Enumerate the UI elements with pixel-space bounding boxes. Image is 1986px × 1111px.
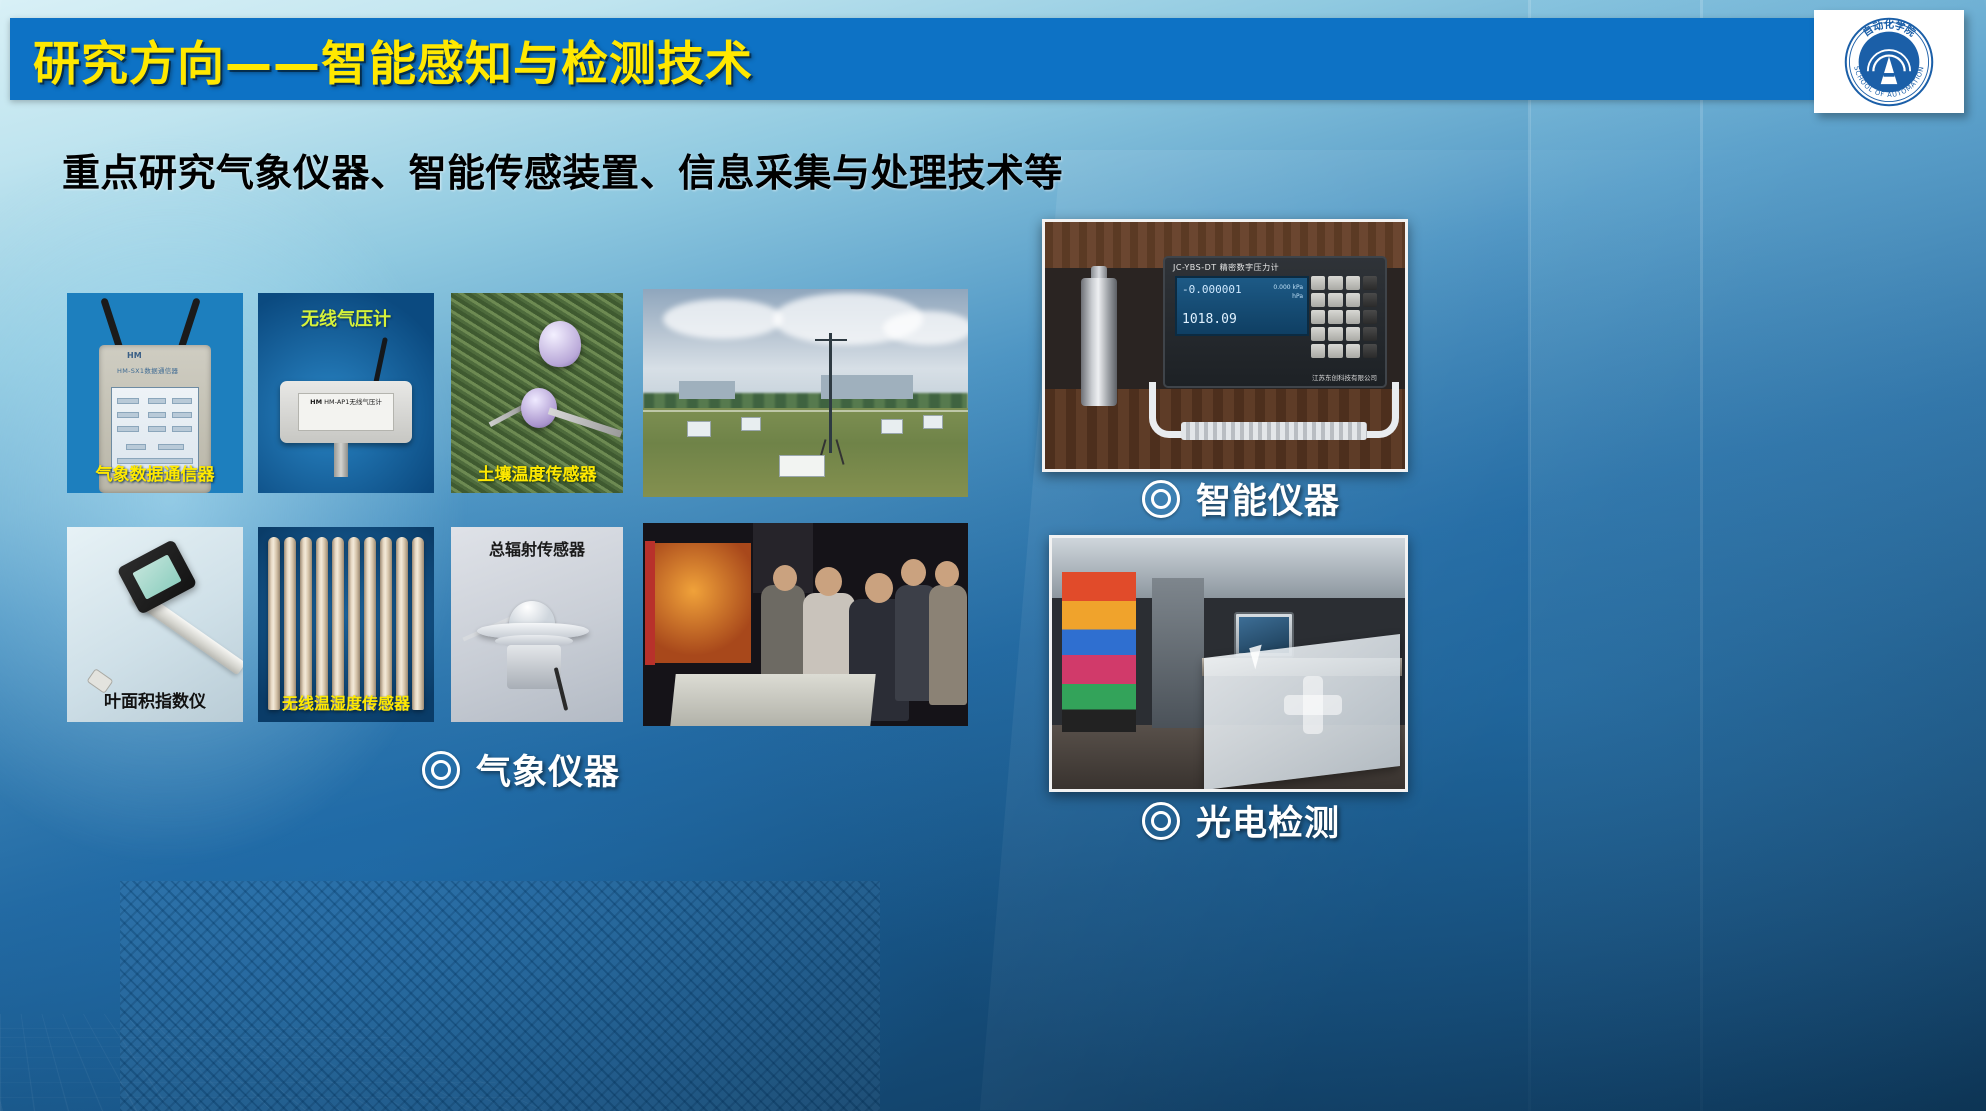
section-label-intelligent-instrument: 智能仪器 (1142, 473, 1340, 524)
person-head (901, 559, 926, 586)
keypad-key[interactable] (1363, 293, 1377, 307)
section-label-text: 智能仪器 (1196, 473, 1340, 524)
background-panel-b (1530, 0, 1986, 1111)
cross-target-icon (1284, 676, 1342, 734)
gauge-keypad[interactable] (1311, 276, 1377, 374)
sensor-base (507, 645, 561, 689)
keypad-key[interactable] (1311, 276, 1325, 290)
handle-grip (1181, 422, 1367, 440)
person-head (815, 567, 842, 596)
sensor-rod (300, 537, 312, 710)
exhibit-stripe (645, 541, 655, 665)
photo-wireless-barometer[interactable]: 无线气压计 HM HM-AP1无线气压计 (258, 293, 434, 493)
photo-photoelectric-detection[interactable] (1049, 535, 1408, 792)
keypad-key[interactable] (1346, 276, 1360, 290)
sensor-rod (316, 537, 328, 710)
photo-caption: 无线气压计 (258, 305, 434, 331)
led-color-panel (1062, 572, 1136, 732)
photo-caption: 无线温湿度传感器 (258, 690, 434, 714)
lcd-side-1: 0.000 kPa (1261, 283, 1303, 292)
slide-canvas: 研究方向——智能感知与检测技术 自动化学院 SCHOOL OF AUTOMATI… (0, 0, 1986, 1111)
lcd-line-2: 1018.09 (1182, 312, 1237, 327)
section-label-weather-instrument: 气象仪器 (422, 744, 620, 795)
keypad-key[interactable] (1311, 344, 1325, 358)
background-vertical-bar (1528, 0, 1531, 1111)
keypad-key[interactable] (1346, 293, 1360, 307)
photo-soil-temperature-sensor[interactable]: 土壤温度传感器 (451, 293, 623, 493)
mast-arm (815, 339, 847, 341)
instrument-shelter (881, 419, 903, 434)
section-label-text: 光电检测 (1196, 795, 1340, 846)
device-brand: HM (127, 351, 142, 360)
photo-digital-pressure-gauge[interactable]: JC-YBS-DT 精密数字压力计 -0.000001 1018.09 0.00… (1042, 219, 1408, 472)
photo-wireless-temp-humidity-sensor[interactable]: 无线温湿度传感器 (258, 527, 434, 722)
keypad-key[interactable] (1311, 293, 1325, 307)
instrument-shelter (741, 417, 761, 431)
building (821, 375, 913, 399)
sensor-rod-group (268, 537, 424, 710)
sensor-rod (396, 537, 408, 710)
photo-caption: 土壤温度传感器 (451, 460, 623, 485)
sensor-probe (548, 407, 622, 437)
school-of-automation-emblem-icon: 自动化学院 SCHOOL OF AUTOMATION (1843, 16, 1935, 108)
person (929, 585, 967, 705)
photo-caption: 气象数据通信器 (67, 460, 243, 485)
instrument-shelter (687, 421, 711, 437)
sensor-rod (348, 537, 360, 710)
keypad-key[interactable] (1346, 344, 1360, 358)
device-label-plate: HM HM-AP1无线气压计 (298, 393, 394, 431)
keypad-key[interactable] (1346, 327, 1360, 341)
photo-caption: 叶面积指数仪 (67, 687, 243, 712)
keypad-key[interactable] (1328, 293, 1342, 307)
sensor-rod (268, 537, 280, 710)
person-head (865, 573, 893, 603)
double-circle-icon (1142, 802, 1180, 840)
cloud (883, 311, 968, 345)
mounting-stem (334, 443, 348, 477)
sensor-rod (332, 537, 344, 710)
keypad-key[interactable] (1363, 327, 1377, 341)
sensor-rod (364, 537, 376, 710)
sensor-head (539, 321, 581, 367)
keypad-key[interactable] (1328, 276, 1342, 290)
exhibit-panel (655, 543, 751, 663)
glass-dome (509, 601, 555, 625)
info-sign (779, 455, 825, 477)
background-glow (0, 120, 480, 880)
section-label-photoelectric-detection: 光电检测 (1142, 795, 1340, 846)
lcd-side-values: 0.000 kPa hPa (1261, 283, 1303, 301)
keypad-key[interactable] (1328, 310, 1342, 324)
cable-icon (373, 337, 388, 385)
keypad-key[interactable] (1363, 276, 1377, 290)
photo-exhibition-scene[interactable] (643, 523, 968, 726)
lcd-line-1: -0.000001 (1182, 283, 1242, 296)
background-mesh (120, 881, 880, 1111)
meter-screen (132, 554, 181, 599)
device-brand: HM (310, 398, 322, 406)
building (679, 381, 735, 399)
sensor-rod (380, 537, 392, 710)
device-model: HM-AP1无线气压计 (324, 398, 382, 406)
section-label-text: 气象仪器 (476, 744, 620, 795)
keypad-key[interactable] (1346, 310, 1360, 324)
slide-title-bar: 研究方向——智能感知与检测技术 (10, 18, 1930, 100)
gauge-title: JC-YBS-DT 精密数字压力计 (1173, 262, 1279, 273)
fence-line (643, 410, 968, 412)
device-label: HM-SX1数据通信器 (117, 365, 178, 375)
pressure-probe (1081, 278, 1117, 406)
page-title: 研究方向——智能感知与检测技术 (33, 25, 753, 94)
photo-caption: 总辐射传感器 (451, 536, 623, 560)
device-body: HM HM-AP1无线气压计 (280, 381, 412, 443)
logo-container: 自动化学院 SCHOOL OF AUTOMATION (1814, 10, 1964, 113)
photo-leaf-area-index-meter[interactable]: 叶面积指数仪 (67, 527, 243, 722)
sensor-rod (284, 537, 296, 710)
weather-mast (829, 333, 832, 453)
keypad-key[interactable] (1328, 327, 1342, 341)
photo-total-radiation-sensor[interactable]: 总辐射传感器 (451, 527, 623, 722)
meter-body (117, 539, 198, 615)
instrument-shelter (923, 415, 943, 429)
keypad-key[interactable] (1311, 310, 1325, 324)
keypad-key[interactable] (1363, 344, 1377, 358)
equipment-rack (1152, 578, 1204, 728)
double-circle-icon (1142, 480, 1180, 518)
photo-weather-data-communicator[interactable]: HM HM-SX1数据通信器 气象数据通信器 (67, 293, 243, 493)
keypad-key[interactable] (1328, 344, 1342, 358)
gauge-lcd-display: -0.000001 1018.09 0.000 kPa hPa (1175, 276, 1309, 336)
keypad-key[interactable] (1311, 327, 1325, 341)
lcd-side-2: hPa (1261, 292, 1303, 301)
subtitle-text: 重点研究气象仪器、智能传感装置、信息采集与处理技术等 (62, 142, 1063, 197)
cloud (663, 299, 783, 339)
person-head (935, 561, 959, 587)
gauge-manufacturer: 江苏东创科技有限公司 (1312, 372, 1377, 382)
person-head (773, 565, 797, 591)
sensor-rod (412, 537, 424, 710)
background-vertical-bar (1700, 0, 1703, 1111)
gauge-unit: JC-YBS-DT 精密数字压力计 -0.000001 1018.09 0.00… (1163, 256, 1387, 388)
display-table (670, 674, 875, 726)
photo-field-weather-station[interactable] (643, 289, 968, 497)
cable-icon (554, 667, 569, 711)
double-circle-icon (422, 751, 460, 789)
keypad-key[interactable] (1363, 310, 1377, 324)
